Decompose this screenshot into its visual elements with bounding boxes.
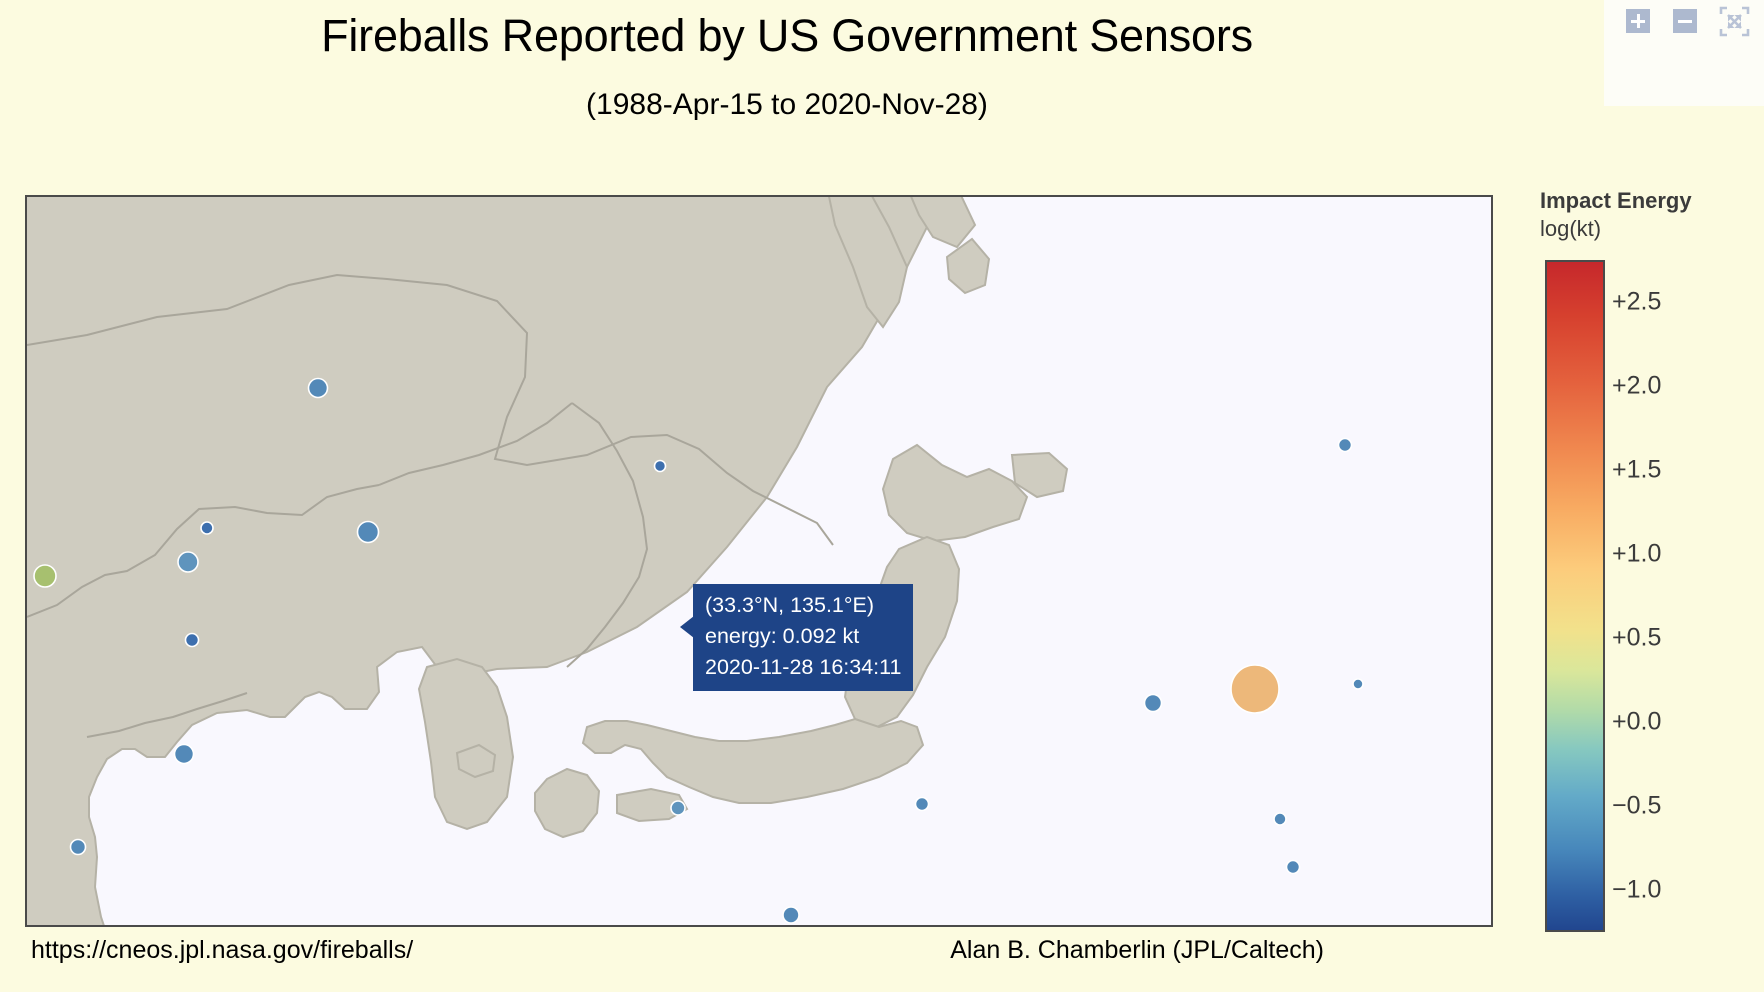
zoom-in-button[interactable] [1626,9,1650,33]
fireball-marker[interactable] [1274,813,1286,825]
fireball-marker[interactable] [1145,695,1162,712]
colorbar-tick-label: +2.5 [1612,288,1661,317]
colorbar-tick-label: +0.0 [1612,708,1661,737]
colorbar-tick-label: +1.5 [1612,456,1661,485]
fireball-marker[interactable] [201,522,213,534]
colorbar-tick-label: −0.5 [1612,792,1661,821]
legend-units: log(kt) [1540,216,1692,242]
map-control-panel [1604,0,1764,106]
fireball-marker[interactable] [671,801,685,815]
landmass-kuriles-east [947,239,989,293]
map-canvas[interactable] [25,195,1493,927]
fireball-marker[interactable] [178,552,198,572]
fireball-marker[interactable] [358,522,379,543]
fireball-marker[interactable] [1231,665,1279,713]
colorbar-tick-label: +0.5 [1612,624,1661,653]
landmass-kyushu [535,769,599,837]
zoom-out-button[interactable] [1673,9,1697,33]
legend-title: Impact Energy [1540,188,1692,214]
page-subtitle: (1988-Apr-15 to 2020-Nov-28) [0,88,1764,122]
fireball-marker[interactable] [1339,439,1352,452]
fireball-marker[interactable] [916,798,929,811]
tooltip-coords: (33.3°N, 135.1°E) [705,590,901,621]
fireball-marker[interactable] [175,745,194,764]
colorbar-gradient [1545,260,1605,932]
footer-credit: Alan B. Chamberlin (JPL/Caltech) [950,936,1324,965]
colorbar-tick-label: −1.0 [1612,876,1661,905]
fireball-marker[interactable] [1353,679,1363,689]
fireball-marker[interactable] [186,634,199,647]
footer-source-url[interactable]: https://cneos.jpl.nasa.gov/fireballs/ [31,936,413,965]
tooltip-energy: energy: 0.092 kt [705,621,901,652]
minus-icon [1678,20,1692,24]
fireball-marker[interactable] [71,840,86,855]
fireball-marker[interactable] [655,461,666,472]
map-svg [27,197,1491,925]
fireball-tooltip: (33.3°N, 135.1°E) energy: 0.092 kt 2020-… [693,584,913,691]
landmass-korea [419,659,513,829]
fireball-marker[interactable] [1287,861,1300,874]
plus-icon-vertical [1637,14,1641,28]
fireball-marker[interactable] [34,565,56,587]
reset-view-button[interactable] [1719,6,1750,37]
landmass-honshu-central [583,719,923,803]
page-title: Fireballs Reported by US Government Sens… [0,10,1764,62]
tooltip-datetime: 2020-11-28 16:34:11 [705,652,901,683]
colorbar-tick-label: +1.0 [1612,540,1661,569]
fireball-marker[interactable] [783,907,799,923]
colorbar-legend: Impact Energy log(kt) +2.5+2.0+1.5+1.0+0… [1540,188,1692,242]
expand-arrows-icon [1719,6,1750,37]
landmass-hokkaido [883,445,1027,541]
colorbar-tick-label: +2.0 [1612,372,1661,401]
fireball-marker[interactable] [309,379,328,398]
